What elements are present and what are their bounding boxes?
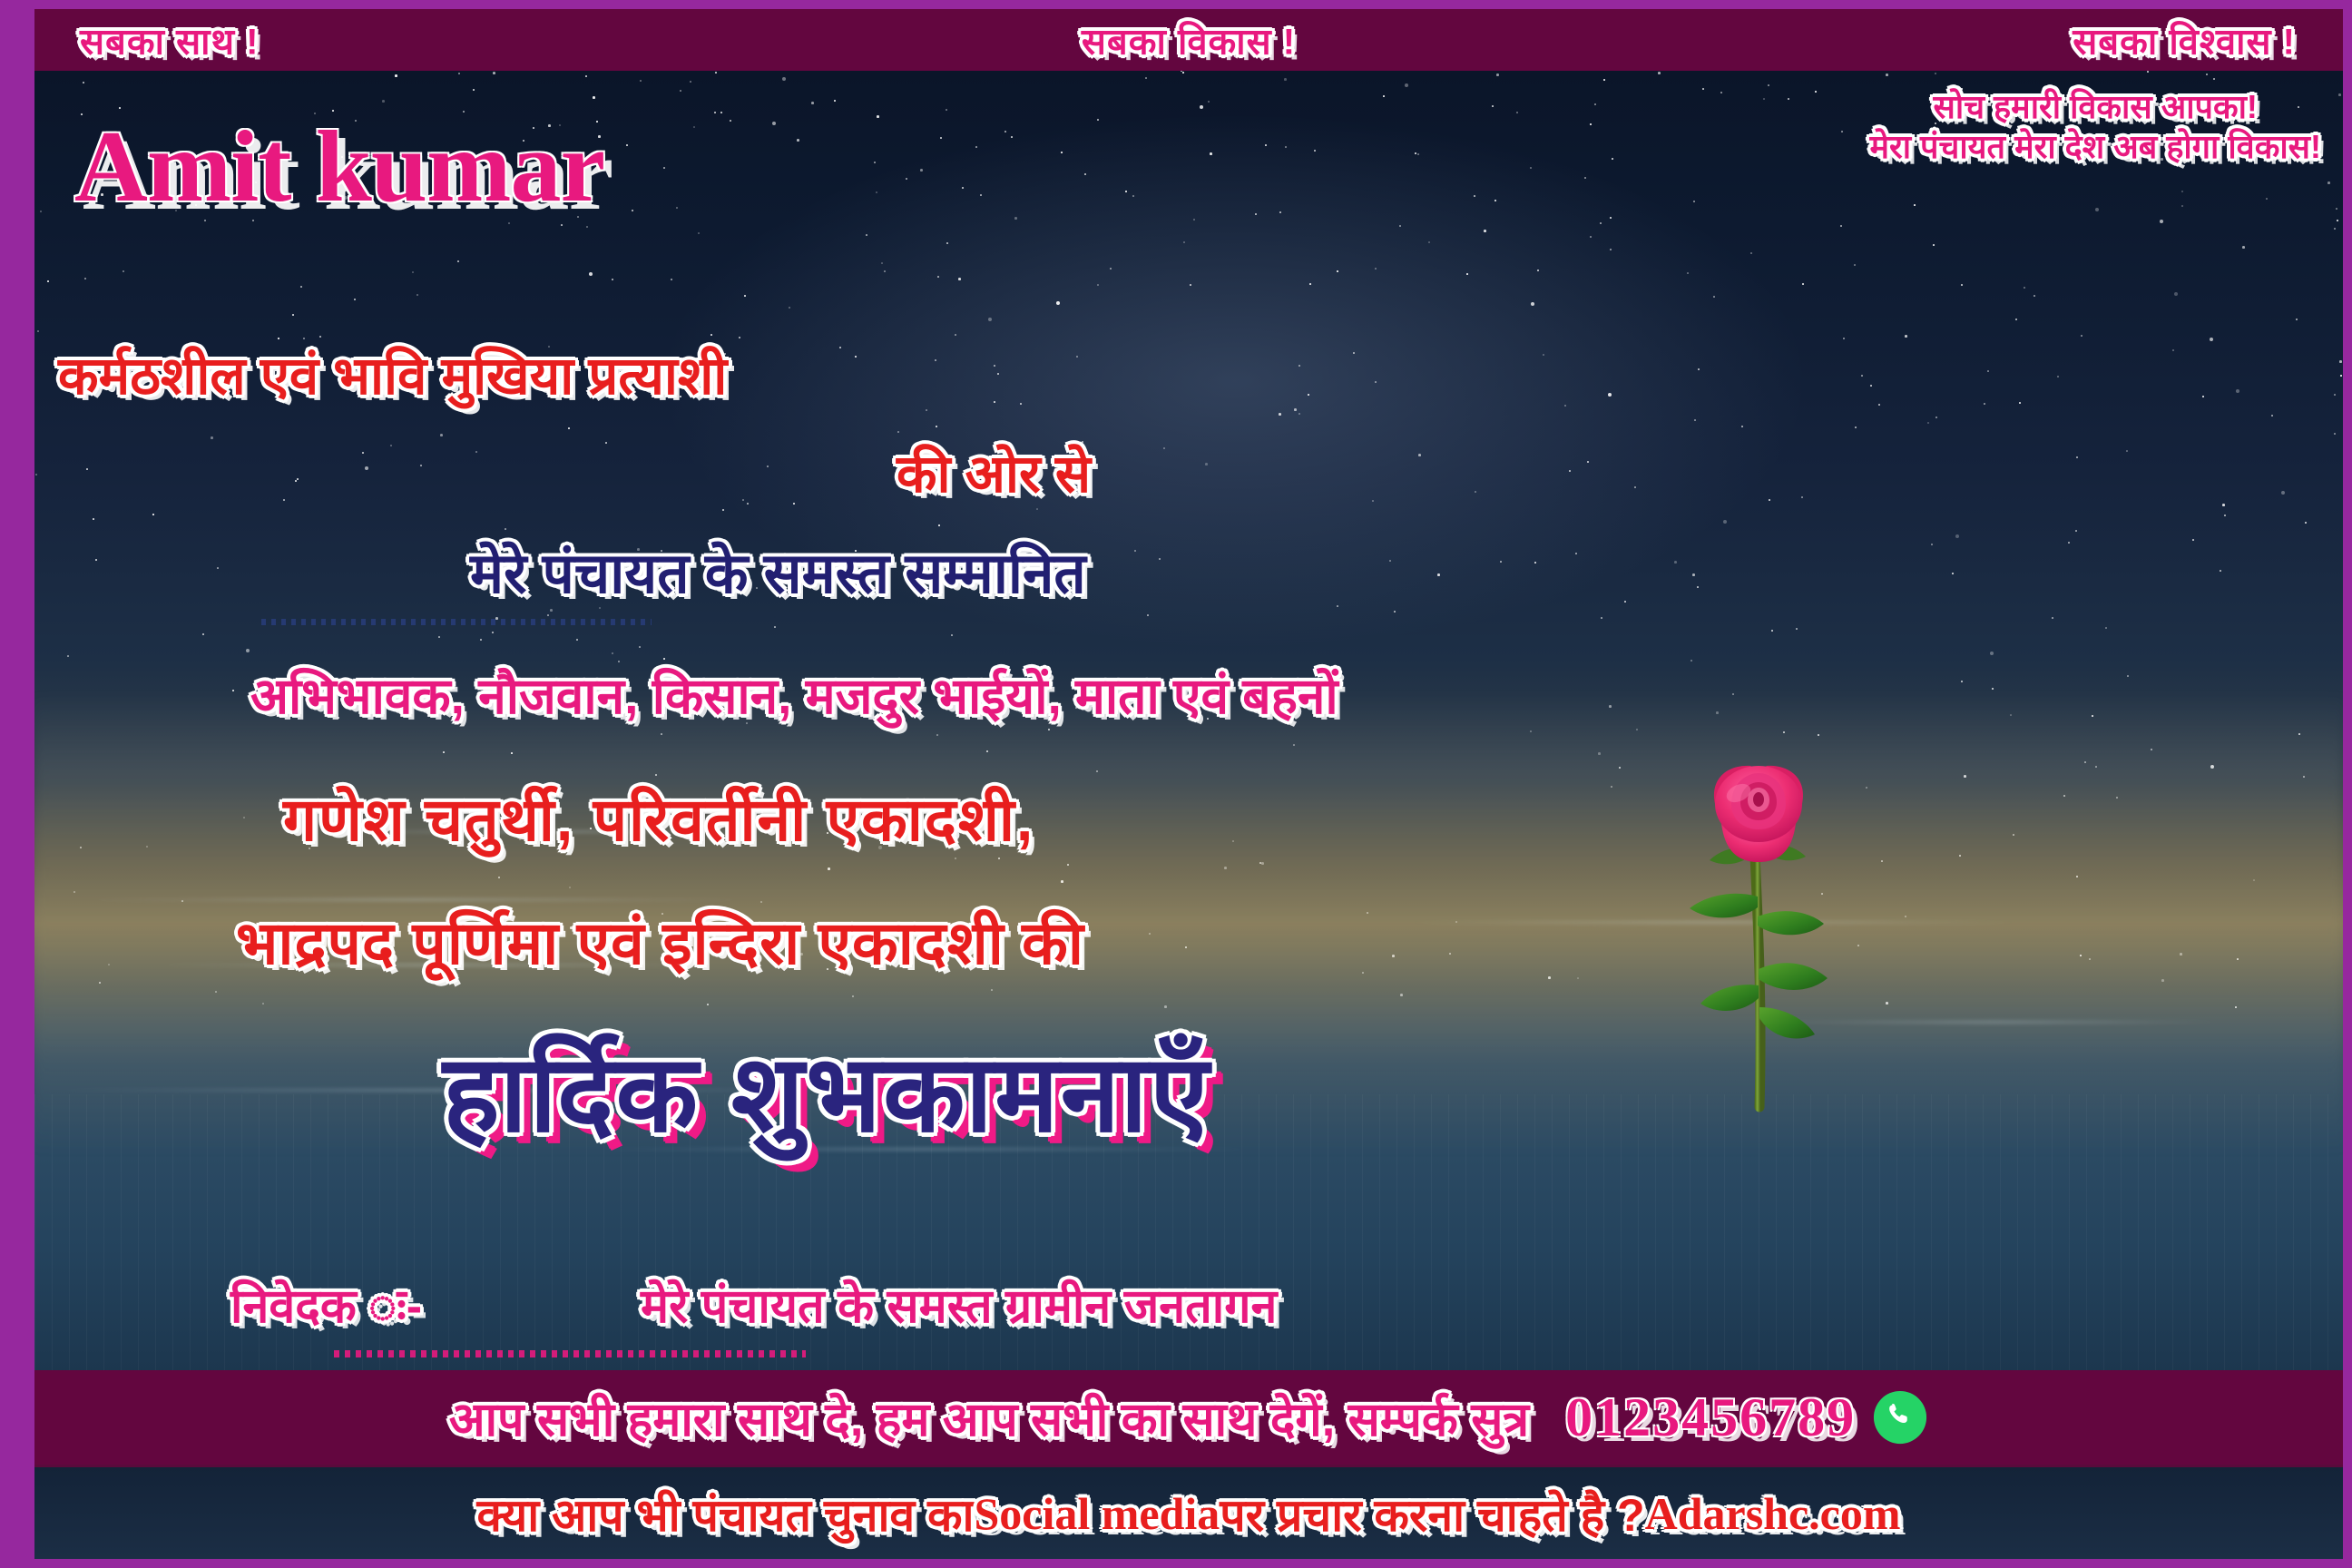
signature-label: निवेदक ः-	[230, 1272, 422, 1337]
dotted-rule-upper	[261, 619, 652, 625]
candidate-designation-line2: की ओर से	[897, 436, 1091, 507]
addressee-line1: मेरे पंचायत के समस्त सम्मानित	[470, 534, 1086, 610]
promo-text-part1: क्या आप भी पंचायत चुनाव का	[476, 1483, 974, 1544]
poster-inner: सबका साथ ! सबका विकास ! सबका विश्वास ! स…	[34, 9, 2343, 1559]
festival-line2: भाद्रपद पूर्णिमा एवं इन्दिरा एकादशी की	[236, 900, 1084, 982]
poster-canvas: सबका साथ ! सबका विकास ! सबका विश्वास ! स…	[0, 0, 2352, 1568]
bottom-banner: आप सभी हमारा साथ दे, हम आप सभी का साथ दे…	[34, 1370, 2343, 1559]
promo-text-social-media: Social media	[974, 1487, 1220, 1540]
rose-icon	[1668, 760, 1849, 1151]
top-right-slogan-block: सोच हमारी विकास आपका! मेरा पंचायत मेरा द…	[1869, 87, 2321, 167]
contact-phone-number[interactable]: 0123456789	[1565, 1387, 1856, 1449]
promo-website-link[interactable]: Adarshc.com	[1645, 1487, 1901, 1540]
slogan-mera-panchayat: मेरा पंचायत मेरा देश अब होगा विकास!	[1869, 127, 2321, 167]
promo-text-part2: पर प्रचार करना चाहते है ?	[1220, 1483, 1644, 1544]
addressee-line2: अभिभावक, नौजवान, किसान, मजदुर भाईयों, मा…	[250, 661, 1338, 729]
whatsapp-icon[interactable]	[1872, 1389, 1928, 1445]
dotted-rule-signature	[334, 1350, 806, 1357]
bottom-banner-row2: क्या आप भी पंचायत चुनाव का Social media …	[34, 1465, 2343, 1559]
top-slogan-bar: सबका साथ ! सबका विकास ! सबका विश्वास !	[34, 9, 2343, 71]
signature-from: मेरे पंचायत के समस्त ग्रामीन जनतागन	[641, 1272, 1277, 1337]
slogan-sabka-vikas: सबका विकास !	[1082, 15, 1296, 65]
slogan-sabka-saath: सबका साथ !	[80, 15, 259, 65]
festival-line1: गणेश चतुर्थी, परिवर्तीनी एकादशी,	[283, 777, 1034, 858]
support-appeal-text: आप सभी हमारा साथ दे, हम आप सभी का साथ दे…	[449, 1386, 1529, 1450]
candidate-name: Amit kumar	[74, 109, 604, 226]
candidate-designation-line1: कर्मठशील एवं भावि मुखिया प्रत्याशी	[58, 338, 727, 409]
slogan-sabka-vishwas: सबका विश्वास !	[2073, 15, 2296, 65]
greeting-text: हार्दिक शुभकामनाएँ	[443, 1016, 1210, 1162]
slogan-soch-hamari: सोच हमारी विकास आपका!	[1869, 87, 2321, 127]
bottom-banner-row1: आप सभी हमारा साथ दे, हम आप सभी का साथ दे…	[34, 1370, 2343, 1465]
